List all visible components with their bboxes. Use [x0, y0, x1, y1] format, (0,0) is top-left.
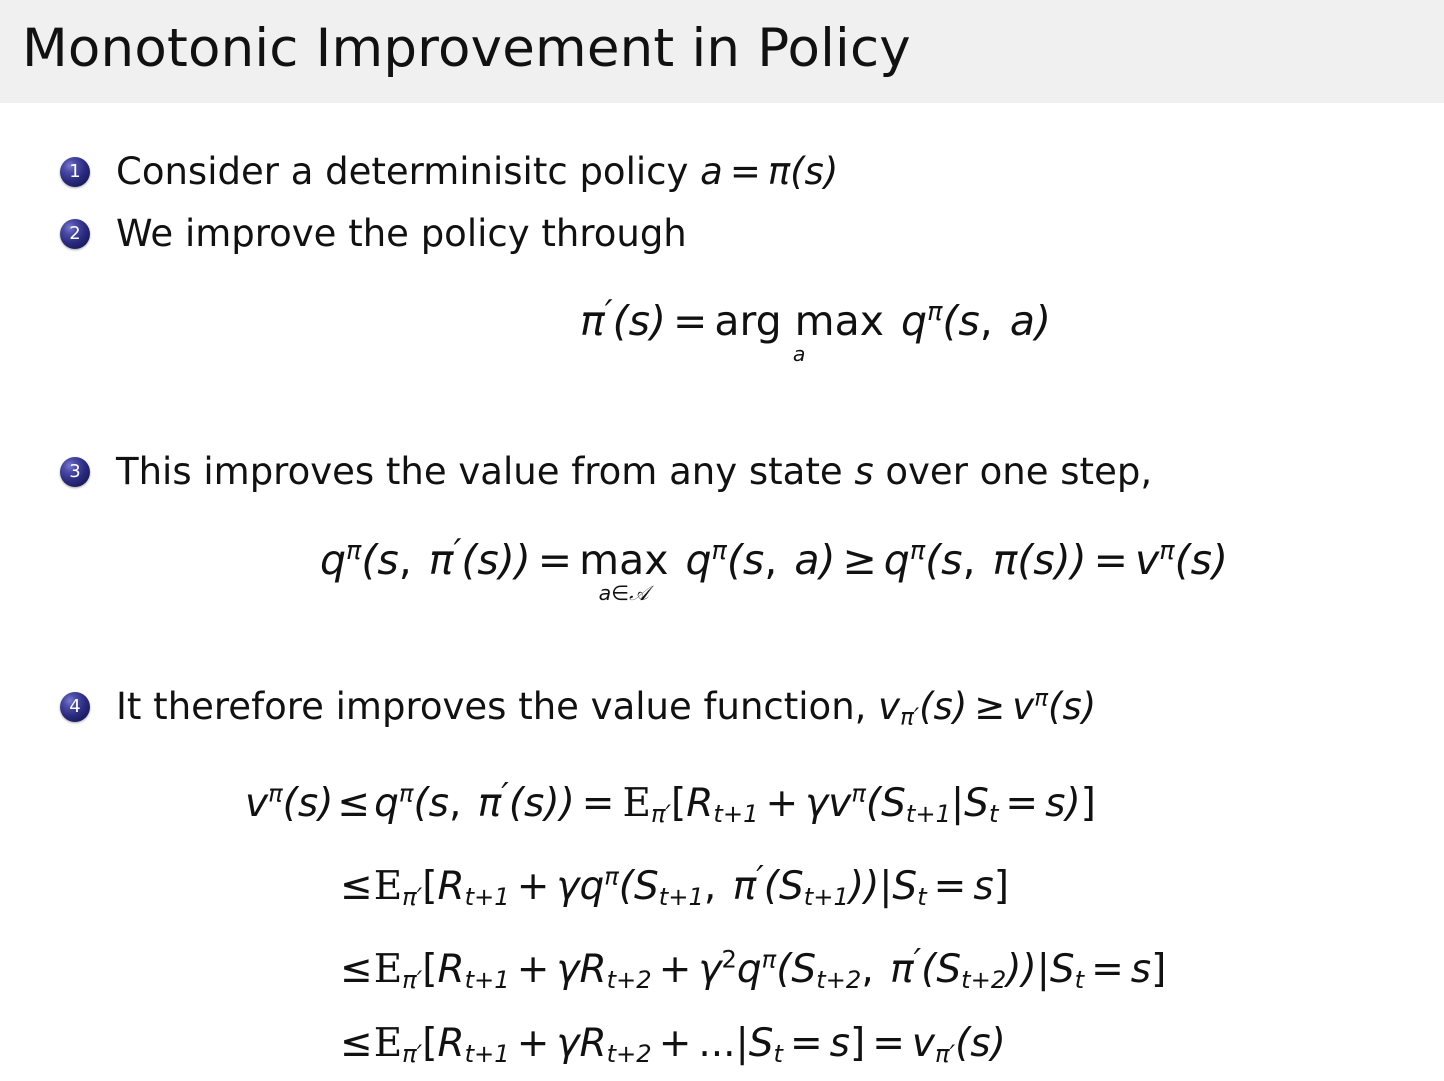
eq2-s6: s: [1191, 536, 1212, 584]
d1-gamma: γ: [805, 781, 828, 826]
d1-comma1: ,: [449, 781, 461, 826]
d2-bracket-close: ]: [994, 864, 1009, 909]
eq2-s1: s: [377, 536, 398, 584]
list-item-2: 2 We improve the policy through: [60, 210, 687, 258]
list-item-4-text: It therefore improves the value function…: [116, 683, 1096, 731]
d1-S1: S: [881, 781, 906, 826]
d1-bracket-close: ]: [1081, 781, 1096, 826]
eq2-max-limit: a∈𝒜: [599, 583, 649, 604]
derivation-line-4: ≤Eπ′[Rt+1+γRt+2+...|St=s]=vπ′(s): [245, 1007, 1166, 1081]
d4-close: ): [991, 1021, 1006, 1066]
eq2-q2: q: [686, 536, 712, 584]
eq2-q3: q: [884, 536, 910, 584]
d1-s2: s: [429, 781, 449, 826]
d3-S1: S: [791, 947, 816, 992]
eq1-close: ): [650, 297, 666, 345]
d3-bracket-open: [: [422, 947, 437, 992]
d2-S3-sub: t: [917, 883, 926, 911]
eq1-comma: ,: [980, 297, 993, 345]
d3-bar: |: [1037, 947, 1050, 992]
eq2-s4: s: [941, 536, 962, 584]
d3-equals: =: [1084, 947, 1131, 992]
d2-equals: =: [927, 864, 974, 909]
eq2-close3: ): [819, 536, 835, 584]
list-item-1: 1 Consider a determinisitc policy a=π(s): [60, 148, 838, 196]
slide-body: 1 Consider a determinisitc policy a=π(s)…: [0, 103, 1444, 1080]
d2-close2: ): [849, 864, 864, 909]
d1-S2-sub: t: [989, 800, 998, 828]
eq2-max-operator: maxa∈𝒜: [579, 540, 668, 604]
eq2-close5: ): [1055, 536, 1071, 584]
inline-math-value-improvement: vπ′(s)≥vπ(s): [878, 685, 1096, 728]
d1-R1-sub: t+1: [713, 800, 758, 828]
d2-sub-pi: π: [402, 883, 417, 911]
list-item-1-label: Consider a determinisitc policy: [116, 150, 700, 193]
eq2-q3-sup: π: [910, 535, 925, 565]
d2-bracket-open: [: [422, 864, 437, 909]
d1-close3: ): [544, 781, 559, 826]
eq1-q: q: [901, 297, 927, 345]
math-var-s: s: [805, 150, 824, 193]
d2-bar: |: [879, 864, 892, 909]
item4-close2: ): [1082, 685, 1096, 728]
equation-q-greedy-improves: qπ(s, π′(s))=maxa∈𝒜 qπ(s, a)≥qπ(s, π(s))…: [320, 527, 1228, 604]
d3-leq: ≤: [340, 947, 373, 992]
d3-sub-pi: π: [402, 966, 417, 994]
d3-s: s: [1131, 947, 1151, 992]
d2-S1-sub: t+1: [659, 883, 704, 911]
d2-R1-sub: t+1: [465, 883, 510, 911]
item4-s2: s: [1062, 685, 1081, 728]
list-item-3-label-part2: over one step,: [874, 450, 1152, 493]
d4-S1: S: [749, 1021, 774, 1066]
eq2-comma2: ,: [764, 536, 777, 584]
eq2-q1: q: [320, 536, 346, 584]
d1-bar: |: [951, 781, 964, 826]
list-item-3: 3 This improves the value from any state…: [60, 448, 1152, 496]
eq2-v: v: [1135, 536, 1159, 584]
d3-S3: S: [1050, 947, 1075, 992]
eq2-sp4: [976, 536, 993, 584]
list-item-4-label: It therefore improves the value function…: [116, 685, 878, 728]
d2-expectation-sub: π′: [402, 883, 422, 911]
math-paren-open: (: [790, 150, 804, 193]
d1-q-sup: π: [399, 779, 414, 807]
d3-comma: ,: [861, 947, 873, 992]
list-item-4: 4 It therefore improves the value functi…: [60, 683, 1096, 731]
enumerate-ball-3: 3: [60, 457, 90, 487]
list-item-2-text: We improve the policy through: [116, 210, 687, 258]
eq2-sp2: [668, 536, 685, 584]
item4-v2: v: [1012, 685, 1034, 728]
d1-equals: =: [575, 781, 622, 826]
eq2-open4: (: [925, 536, 941, 584]
d2-expectation: E: [373, 864, 402, 909]
enumerate-ball-1: 1: [60, 157, 90, 187]
d1-pi1: π: [478, 781, 501, 826]
d2-prime: ′: [756, 858, 764, 897]
d1-expectation-sub: π′: [651, 800, 671, 828]
d4-bracket-open: [: [422, 1021, 437, 1066]
d4-v-sub-pi: π: [935, 1040, 950, 1068]
eq2-s3: s: [743, 536, 764, 584]
math-var-a: a: [700, 150, 723, 193]
equation-policy-improvement-argmax: π′(s)=arg maxa qπ(s, a): [580, 288, 1051, 365]
derivation-line-1: vπ(s)≤qπ(s, π′(s))=Eπ′[Rt+1+γvπ(St+1|St=…: [245, 758, 1166, 841]
item4-s1: s: [934, 685, 953, 728]
d3-R2: R: [579, 947, 606, 992]
d4-v: v: [912, 1021, 935, 1066]
enumerate-ball-4: 4: [60, 692, 90, 722]
d4-bracket-close: ]: [850, 1021, 865, 1066]
eq2-open1: (: [361, 536, 377, 584]
eq1-argmax-label: arg max: [714, 301, 884, 342]
d1-equals2: =: [998, 781, 1045, 826]
d1-prime1: ′: [501, 775, 509, 814]
eq2-close2: ): [499, 536, 515, 584]
d1-s3: s: [524, 781, 544, 826]
eq2-open3: (: [727, 536, 743, 584]
eq1-argmax-limit: a: [793, 344, 806, 365]
eq1-args-open: (: [942, 297, 958, 345]
d3-close1: ): [1021, 947, 1036, 992]
d3-R1-sub: t+1: [465, 966, 510, 994]
d3-S3-sub: t: [1075, 966, 1084, 994]
d4-plus1: +: [510, 1021, 557, 1066]
eq2-comma1: ,: [399, 536, 412, 584]
d1-open3: (: [509, 781, 524, 826]
d1-leq: ≤: [333, 781, 374, 826]
d4-R1: R: [437, 1021, 464, 1066]
d2-open2: (: [764, 864, 779, 909]
d2-S3: S: [892, 864, 917, 909]
inline-math-policy-definition: a=π(s): [700, 150, 838, 193]
d1-close1: ): [318, 781, 333, 826]
d2-R1: R: [437, 864, 464, 909]
frame-header: Monotonic Improvement in Policy: [0, 0, 1444, 103]
d4-equals2: =: [865, 1021, 912, 1066]
eq1-pi-prime: π: [580, 297, 605, 345]
d4-open: (: [955, 1021, 970, 1066]
derivation-line-3-content: ≤Eπ′[Rt+1+γRt+2+γ2qπ(St+2, π′(St+2))|St=…: [340, 947, 1166, 992]
d2-q: q: [579, 864, 604, 909]
d2-close1: ): [864, 864, 879, 909]
d3-q: q: [737, 947, 762, 992]
eq2-close4: ): [1071, 536, 1087, 584]
d2-plus: +: [510, 864, 557, 909]
list-item-3-text: This improves the value from any state s…: [116, 448, 1152, 496]
item4-geq: ≥: [967, 685, 1012, 728]
d3-close2: ): [1006, 947, 1021, 992]
eq1-arg-s: s: [958, 297, 979, 345]
item4-sub-pi: π: [900, 705, 914, 731]
eq2-max-label: max: [579, 540, 668, 581]
d2-open1: (: [619, 864, 634, 909]
d2-S2-sub: t+1: [804, 883, 849, 911]
eq2-equals2: =: [1087, 536, 1135, 584]
item4-close1: ): [953, 685, 967, 728]
d3-expectation: E: [373, 947, 402, 992]
d1-close2: ): [560, 781, 575, 826]
d4-S1-sub: t: [774, 1040, 783, 1068]
d2-q-sup: π: [604, 862, 619, 890]
eq1-s: s: [629, 297, 650, 345]
derivation-line-4-content: ≤Eπ′[Rt+1+γRt+2+...|St=s]=vπ′(s): [340, 1021, 1006, 1066]
eq1-args-close: ): [1035, 297, 1051, 345]
page-title: Monotonic Improvement in Policy: [22, 18, 911, 80]
equation-1-content: π′(s)=arg maxa qπ(s, a): [580, 297, 1051, 345]
d2-leq: ≤: [340, 864, 373, 909]
d2-gamma: γ: [556, 864, 579, 909]
d3-plus2: +: [652, 947, 699, 992]
d1-v: v: [245, 781, 268, 826]
eq1-open: (: [613, 297, 629, 345]
derivation-line-2-content: ≤Eπ′[Rt+1+γqπ(St+1, π′(St+1))|St=s]: [340, 864, 1009, 909]
derivation-line-2: ≤Eπ′[Rt+1+γqπ(St+1, π′(St+1))|St=s]: [245, 841, 1166, 924]
eq2-close6: ): [1212, 536, 1228, 584]
d3-open2: (: [921, 947, 936, 992]
d3-prime: ′: [914, 941, 922, 980]
d1-open4: (: [866, 781, 881, 826]
enumerate-ball-2: 2: [60, 219, 90, 249]
d1-S2: S: [964, 781, 989, 826]
eq1-q-sup-pi: π: [927, 296, 942, 326]
d3-S1-sub: t+2: [816, 966, 861, 994]
list-item-1-text: Consider a determinisitc policy a=π(s): [116, 148, 838, 196]
d4-expectation: E: [373, 1021, 402, 1066]
eq1-prime: ′: [605, 294, 613, 334]
d1-s4: s: [1045, 781, 1065, 826]
eq2-geq: ≥: [835, 536, 883, 584]
d1-open1: (: [283, 781, 298, 826]
d3-R2-sub: t+2: [607, 966, 652, 994]
d1-v-sup: π: [268, 779, 283, 807]
eq1-argmax-operator: arg maxa: [714, 301, 884, 365]
item4-open2: (: [1048, 685, 1062, 728]
list-item-3-label-part1: This improves the value from any state: [116, 450, 854, 493]
d4-plus2: +: [652, 1021, 699, 1066]
d1-sub-pi: π: [651, 800, 666, 828]
eq2-a1: a: [794, 536, 819, 584]
equation-value-function-improvement-chain: vπ(s)≤qπ(s, π′(s))=Eπ′[Rt+1+γvπ(St+1|St=…: [245, 758, 1166, 1081]
d1-q: q: [374, 781, 399, 826]
d3-S2-sub: t+2: [961, 966, 1006, 994]
d3-plus1: +: [510, 947, 557, 992]
eq2-q2-sup: π: [712, 535, 727, 565]
eq2-sp1: [412, 536, 429, 584]
derivation-line-1-content: vπ(s)≤qπ(s, π′(s))=Eπ′[Rt+1+γvπ(St+1|St=…: [245, 781, 1096, 826]
d3-gamma1: γ: [556, 947, 579, 992]
d2-comma: ,: [704, 864, 716, 909]
derivation-line-3: ≤Eπ′[Rt+1+γRt+2+γ2qπ(St+2, π′(St+2))|St=…: [245, 924, 1166, 1007]
eq2-open5: (: [1017, 536, 1033, 584]
eq2-pi2: π: [993, 536, 1018, 584]
eq2-open2: (: [461, 536, 477, 584]
d4-dots: ...: [698, 1021, 735, 1066]
d4-leq: ≤: [340, 1021, 373, 1066]
d4-equals1: =: [783, 1021, 830, 1066]
d4-s1: s: [830, 1021, 850, 1066]
d1-v2-sup: π: [851, 779, 866, 807]
d1-R1: R: [686, 781, 713, 826]
d1-open2: (: [413, 781, 428, 826]
d4-sub-pi: π: [402, 1040, 417, 1068]
eq2-sp3: [777, 536, 794, 584]
d2-sp1: [716, 864, 732, 909]
eq1-space2: [993, 297, 1010, 345]
d1-expectation: E: [621, 781, 650, 826]
d1-s1: s: [298, 781, 318, 826]
d2-S2: S: [779, 864, 804, 909]
d1-S1-sub: t+1: [906, 800, 951, 828]
d4-R2-sub: t+2: [607, 1040, 652, 1068]
item4-v1: v: [878, 685, 900, 728]
d2-pi: π: [733, 864, 756, 909]
d3-gamma2-exp: 2: [721, 945, 736, 973]
item4-v1-sub: π′: [900, 705, 919, 731]
eq2-limit-set: 𝒜: [629, 581, 649, 605]
d2-S1: S: [634, 864, 659, 909]
d4-R2: R: [579, 1021, 606, 1066]
item4-v2-sup: π: [1034, 685, 1048, 711]
eq2-comma3: ,: [963, 536, 976, 584]
d3-R1: R: [437, 947, 464, 992]
d1-sp1: [461, 781, 477, 826]
d3-open1: (: [776, 947, 791, 992]
d3-gamma2: γ: [698, 947, 721, 992]
d1-close4: ): [1065, 781, 1080, 826]
d3-expectation-sub: π′: [402, 966, 422, 994]
d3-bracket-close: ]: [1151, 947, 1166, 992]
d1-plus: +: [758, 781, 805, 826]
equation-2-content: qπ(s, π′(s))=maxa∈𝒜 qπ(s, a)≥qπ(s, π(s))…: [320, 536, 1228, 584]
eq2-limit-in: ∈: [611, 581, 629, 605]
eq2-equals1: =: [531, 536, 579, 584]
d4-expectation-sub: π′: [402, 1040, 422, 1068]
item4-open1: (: [919, 685, 933, 728]
d4-gamma: γ: [556, 1021, 579, 1066]
eq2-open6: (: [1175, 536, 1191, 584]
eq1-equals: =: [666, 297, 714, 345]
eq1-arg-a: a: [1010, 297, 1035, 345]
d1-bracket-open: [: [671, 781, 686, 826]
math-pi: π: [768, 150, 790, 193]
math-paren-close: ): [824, 150, 838, 193]
d3-S2: S: [936, 947, 961, 992]
list-item-3-math-s: s: [854, 450, 873, 493]
d4-s2: s: [970, 1021, 990, 1066]
eq2-s5: s: [1033, 536, 1054, 584]
d4-bar: |: [736, 1021, 749, 1066]
d2-s: s: [973, 864, 993, 909]
eq2-close1: ): [515, 536, 531, 584]
eq2-q1-sup: π: [346, 535, 361, 565]
eq2-pi1: π: [429, 536, 454, 584]
d1-v2: v: [828, 781, 851, 826]
eq2-v-sup: π: [1159, 535, 1174, 565]
d3-q-sup: π: [762, 945, 777, 973]
eq2-limit-a: a: [599, 581, 612, 605]
d4-v-sub: π′: [935, 1040, 955, 1068]
eq2-s2: s: [477, 536, 498, 584]
math-equals: =: [723, 150, 768, 193]
d3-sp1: [874, 947, 890, 992]
d3-pi: π: [890, 947, 913, 992]
d4-R1-sub: t+1: [465, 1040, 510, 1068]
eq1-space: [884, 297, 901, 345]
